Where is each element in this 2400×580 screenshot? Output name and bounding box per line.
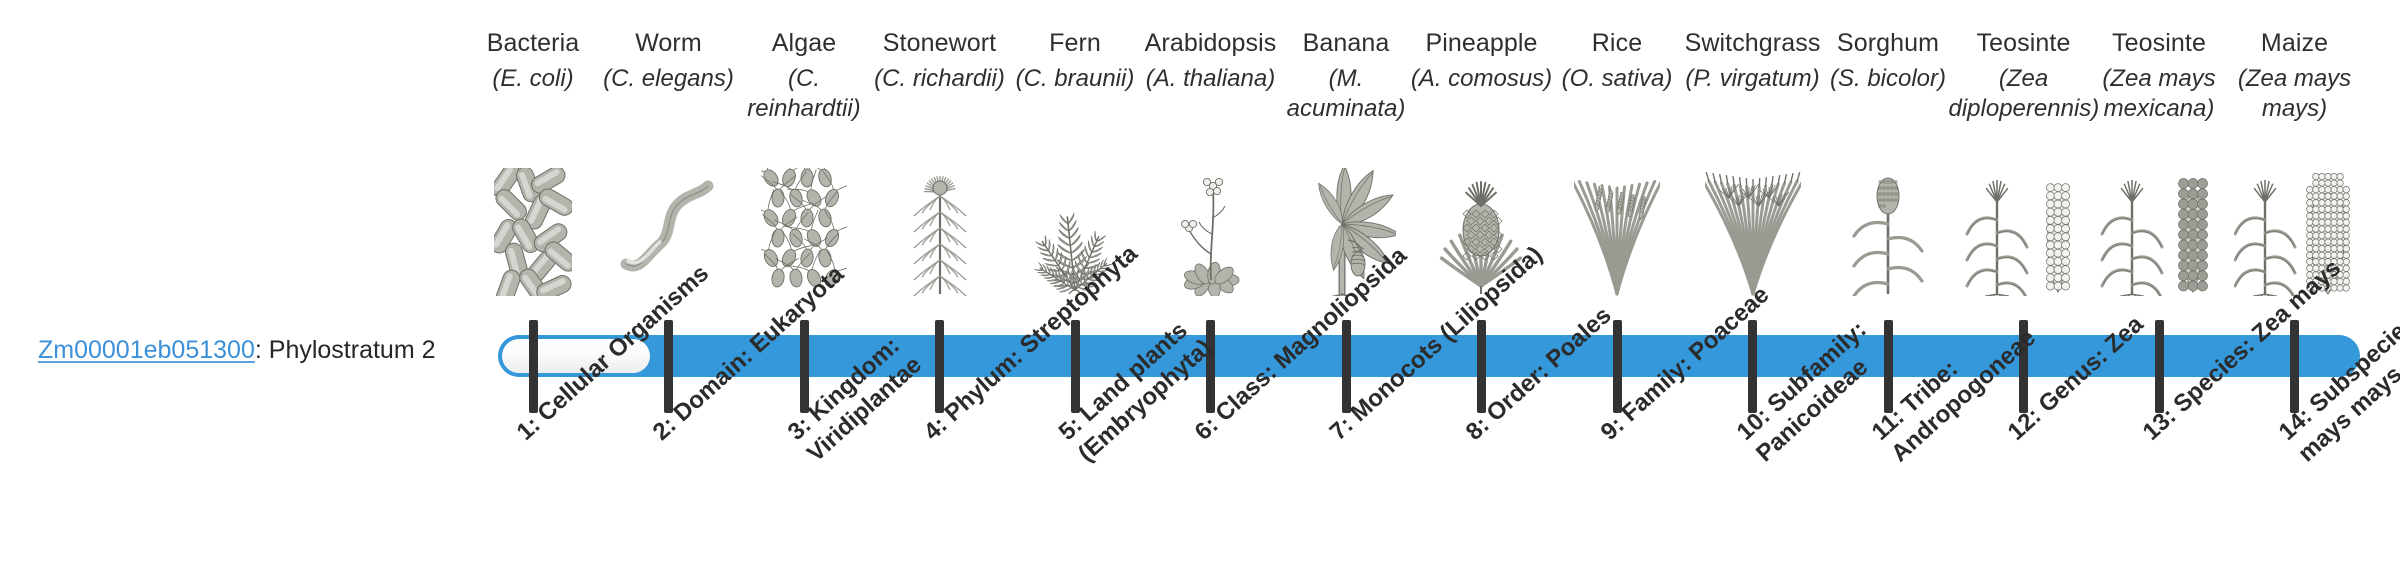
gene-phylostratum-label: Zm00001eb051300: Phylostratum 2 (38, 336, 436, 365)
pineapple-icon (1407, 168, 1557, 296)
species-common-name: Bacteria (458, 28, 608, 58)
gene-id-link[interactable]: Zm00001eb051300 (38, 336, 255, 364)
phylostratum-tick-7 (1342, 320, 1351, 413)
species-common-name: Teosinte (1949, 28, 2099, 58)
species-scientific-name: (Zea diploperennis) (1949, 64, 2099, 124)
rank-number: 12: (2002, 403, 2046, 446)
species-scientific-name: (A. comosus) (1407, 64, 1557, 94)
phylostratum-value-text: Phylostratum 2 (269, 336, 436, 364)
switchgrass-icon (1678, 168, 1828, 296)
phylostratum-tick-10 (1748, 320, 1757, 413)
species-scientific-name: (M. acuminata) (1271, 64, 1421, 124)
species-scientific-name: (E. coli) (458, 64, 608, 94)
species-scientific-name: (O. sativa) (1542, 64, 1692, 94)
species-common-name: Teosinte (2084, 28, 2234, 58)
species-scientific-name: (Zea mays mays) (2220, 64, 2370, 124)
species-scientific-name: (C. richardii) (865, 64, 1015, 94)
species-column-14: Maize(Zea mays mays) (2220, 28, 2370, 124)
bacteria-icon (458, 168, 608, 296)
species-column-1: Bacteria(E. coli) (458, 28, 608, 94)
species-scientific-name: (C. reinhardtii) (729, 64, 879, 124)
species-column-8: Pineapple(A. comosus) (1407, 28, 1557, 94)
species-common-name: Sorghum (1813, 28, 1963, 58)
species-common-name: Rice (1542, 28, 1692, 58)
phylostratigraphy-figure: Zm00001eb051300: Phylostratum 2 Bacteria… (0, 0, 2400, 580)
species-common-name: Banana (1271, 28, 1421, 58)
gene-label-separator: : (255, 336, 269, 364)
species-column-3: Algae(C. reinhardtii) (729, 28, 879, 124)
species-common-name: Algae (729, 28, 879, 58)
species-column-12: Teosinte(Zea diploperennis) (1949, 28, 2099, 124)
species-scientific-name: (S. bicolor) (1813, 64, 1963, 94)
phylostratum-tick-13 (2155, 320, 2164, 413)
species-column-5: Fern(C. braunii) (1000, 28, 1150, 94)
rank-number: 8: (1460, 411, 1494, 445)
species-column-6: Arabidopsis(A. thaliana) (1136, 28, 1286, 94)
species-column-13: Teosinte(Zea mays mexicana) (2084, 28, 2234, 124)
species-common-name: Stonewort (865, 28, 1015, 58)
species-common-name: Fern (1000, 28, 1150, 58)
species-column-7: Banana(M. acuminata) (1271, 28, 1421, 124)
phylostratum-tick-2 (664, 320, 673, 413)
rank-number: 6: (1189, 411, 1223, 445)
species-column-9: Rice(O. sativa) (1542, 28, 1692, 94)
species-column-10: Switchgrass(P. virgatum) (1678, 28, 1828, 94)
species-common-name: Switchgrass (1678, 28, 1828, 58)
species-scientific-name: (C. elegans) (594, 64, 744, 94)
species-common-name: Pineapple (1407, 28, 1557, 58)
algae-icon (729, 168, 879, 296)
worm-icon (594, 168, 744, 296)
phylostratum-tick-5 (1071, 320, 1080, 413)
phylostratum-tick-9 (1613, 320, 1622, 413)
rank-number: 4: (918, 411, 952, 445)
rank-number: 2: (647, 411, 681, 445)
phylostratum-tick-14 (2290, 320, 2299, 413)
rice-icon (1542, 168, 1692, 296)
rank-number: 13: (2138, 403, 2182, 446)
phylostratum-tick-1 (529, 320, 538, 413)
species-scientific-name: (Zea mays mexicana) (2084, 64, 2234, 124)
maize-icon (2220, 168, 2370, 296)
species-column-2: Worm(C. elegans) (594, 28, 744, 94)
species-common-name: Worm (594, 28, 744, 58)
species-column-11: Sorghum(S. bicolor) (1813, 28, 1963, 94)
phylostratum-tick-3 (800, 320, 809, 413)
species-scientific-name: (A. thaliana) (1136, 64, 1286, 94)
species-column-4: Stonewort(C. richardii) (865, 28, 1015, 94)
species-scientific-name: (P. virgatum) (1678, 64, 1828, 94)
phylostratum-tick-8 (1477, 320, 1486, 413)
species-common-name: Maize (2220, 28, 2370, 58)
species-scientific-name: (C. braunii) (1000, 64, 1150, 94)
species-common-name: Arabidopsis (1136, 28, 1286, 58)
